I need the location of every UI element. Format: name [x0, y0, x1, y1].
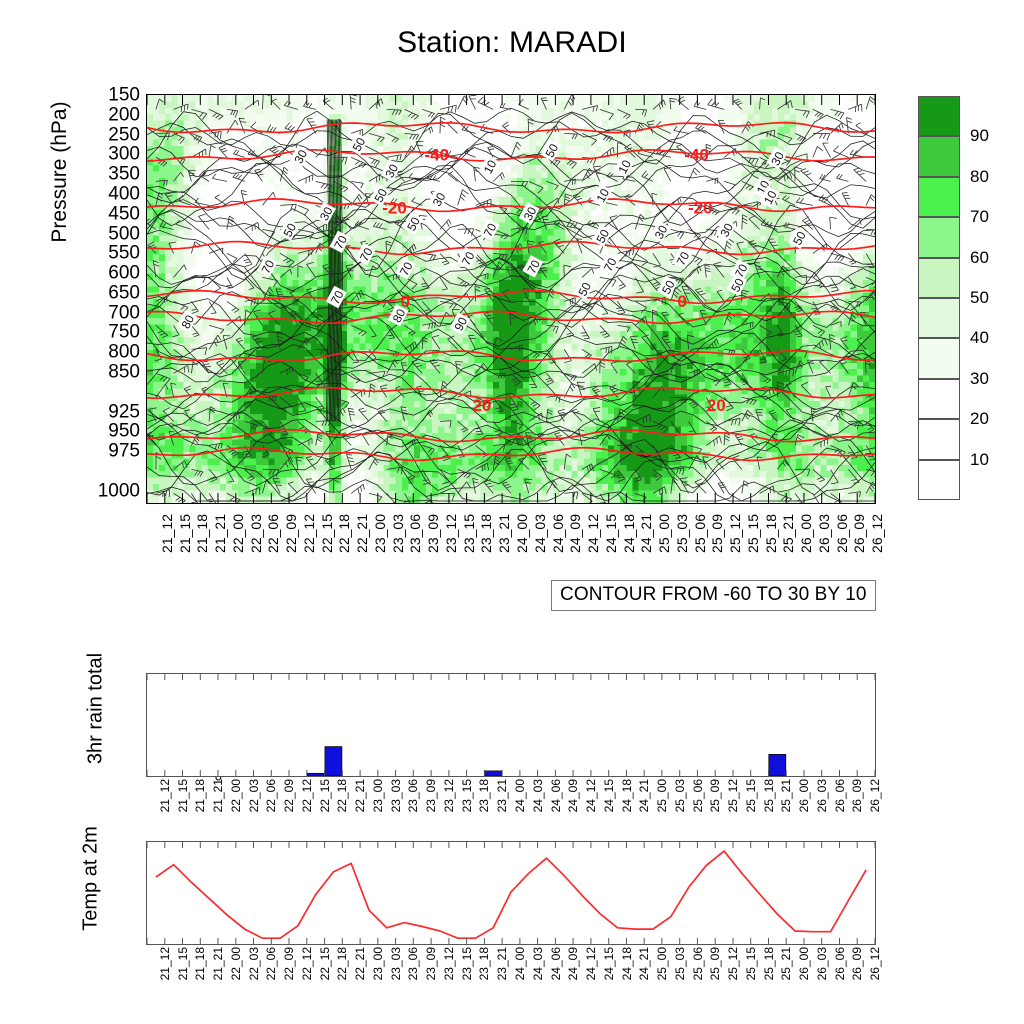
- colorbar-label: 50: [970, 288, 989, 308]
- rain-bar-chart: [147, 674, 875, 776]
- x-tick-label: 25_21: [781, 514, 795, 553]
- x-tick-label: 24_09: [567, 779, 579, 812]
- x-tick-label: 21_21: [212, 947, 224, 980]
- main-y-tick: 800: [80, 343, 140, 362]
- x-tick-label: 25_15: [745, 779, 757, 812]
- time-height-plot: -40-40-20-200020203050301050103010503030…: [147, 95, 875, 503]
- x-tick-label: 24_21: [639, 514, 653, 553]
- x-tick-label: 25_18: [764, 514, 778, 553]
- x-tick-label: 23_06: [407, 779, 419, 812]
- colorbar-label: 30: [970, 369, 989, 389]
- x-tick-label: 25_00: [657, 514, 671, 553]
- x-tick-label: 21_15: [178, 514, 192, 553]
- x-tick-label: 24_00: [514, 779, 526, 812]
- relative-humidity-colorbar: 908070605040302010: [918, 96, 960, 500]
- x-tick-label: 26_00: [798, 779, 810, 812]
- main-y-tick: 650: [80, 283, 140, 302]
- colorbar-cell: [918, 338, 960, 378]
- x-tick-label: 25_21: [780, 779, 792, 812]
- x-tick-label: 25_03: [674, 779, 686, 812]
- x-tick-label: 26_03: [816, 779, 828, 812]
- x-tick-label: 24_18: [622, 514, 636, 553]
- x-tick-label: 25_09: [709, 779, 721, 812]
- x-tick-label: 24_18: [621, 779, 633, 812]
- main-y-tick: 450: [80, 204, 140, 223]
- x-tick-label: 25_00: [656, 947, 668, 980]
- x-tick-label: 24_00: [514, 947, 526, 980]
- x-tick-label: 24_09: [568, 514, 582, 553]
- x-tick-label: 21_21: [213, 514, 227, 553]
- x-tick-label: 26_06: [834, 779, 846, 812]
- x-tick-label: 21_15: [177, 947, 189, 980]
- x-tick-label: 23_15: [461, 779, 473, 812]
- temp-y-axis-label: Temp at 2m: [80, 794, 103, 964]
- x-tick-label: 23_21: [496, 947, 508, 980]
- x-tick-label: 26_03: [817, 514, 831, 553]
- x-tick-label: 23_00: [373, 514, 387, 553]
- main-y-tick: 700: [80, 303, 140, 322]
- main-y-tick: 400: [80, 184, 140, 203]
- x-tick-label: 24_21: [638, 947, 650, 980]
- x-tick-label: 25_09: [709, 947, 721, 980]
- x-tick-label: 24_15: [604, 514, 618, 553]
- x-tick-label: 25_12: [727, 779, 739, 812]
- x-tick-label: 22_09: [283, 947, 295, 980]
- main-y-tick: 250: [80, 125, 140, 144]
- colorbar-cell: [918, 177, 960, 217]
- x-tick-label: 23_03: [391, 514, 405, 553]
- colorbar-cell: [918, 258, 960, 298]
- x-tick-label: 26_09: [852, 514, 866, 553]
- colorbar-label: 20: [970, 409, 989, 429]
- x-tick-label: 22_00: [230, 779, 242, 812]
- temp-y-axis-label-wrap: Temp at 2m: [12, 893, 13, 894]
- colorbar-label: 70: [970, 207, 989, 227]
- temperature-line-chart: [147, 842, 875, 944]
- x-tick-label: 22_21: [354, 779, 366, 812]
- x-tick-label: 25_12: [727, 947, 739, 980]
- main-y-tick: 350: [80, 165, 140, 184]
- main-y-tick: 500: [80, 224, 140, 243]
- x-tick-label: 24_12: [585, 947, 597, 980]
- x-tick-label: 23_12: [444, 514, 458, 553]
- x-tick-label: 22_09: [284, 514, 298, 553]
- x-tick-label: 22_00: [231, 514, 245, 553]
- x-tick-label: 21_18: [194, 779, 206, 812]
- x-tick-label: 25_00: [656, 779, 668, 812]
- x-tick-label: 23_06: [407, 947, 419, 980]
- x-tick-label: 25_06: [693, 514, 707, 553]
- x-tick-label: 23_03: [390, 779, 402, 812]
- x-tick-label: 26_12: [870, 514, 884, 553]
- x-tick-label: 25_15: [745, 947, 757, 980]
- main-y-tick: 950: [80, 422, 140, 441]
- x-tick-label: 22_00: [230, 947, 242, 980]
- colorbar-label: 10: [970, 450, 989, 470]
- main-x-tick-labels: 21_1221_1521_1821_2122_0022_0322_0622_09…: [146, 514, 876, 586]
- x-tick-label: 23_12: [443, 779, 455, 812]
- main-y-tick: 1000: [80, 481, 140, 500]
- x-tick-label: 24_03: [532, 779, 544, 812]
- x-tick-label: 22_12: [302, 514, 316, 553]
- x-tick-label: 24_21: [638, 779, 650, 812]
- x-tick-label: 22_21: [355, 514, 369, 553]
- x-tick-label: 25_03: [674, 947, 686, 980]
- x-tick-label: 21_18: [195, 514, 209, 553]
- rain-y-axis-label: 3hr rain total: [85, 619, 108, 799]
- main-y-tick: 925: [80, 402, 140, 421]
- x-tick-label: 23_03: [390, 947, 402, 980]
- x-tick-label: 24_09: [567, 947, 579, 980]
- x-tick-label: 25_03: [675, 514, 689, 553]
- x-tick-label: 22_03: [248, 779, 260, 812]
- x-tick-label: 26_06: [835, 514, 849, 553]
- main-y-axis-label: Pressure (hPa): [48, 7, 72, 337]
- x-tick-label: 21_12: [159, 779, 171, 812]
- main-y-tick: 975: [80, 442, 140, 461]
- x-tick-label: 26_12: [869, 779, 881, 812]
- x-tick-label: 22_18: [336, 779, 348, 812]
- x-tick-label: 22_12: [301, 947, 313, 980]
- x-tick-label: 23_09: [426, 514, 440, 553]
- x-tick-label: 26_06: [834, 947, 846, 980]
- x-tick-label: 26_09: [851, 947, 863, 980]
- x-tick-label: 23_21: [497, 514, 511, 553]
- x-tick-label: 24_12: [586, 514, 600, 553]
- x-tick-label: 24_06: [550, 947, 562, 980]
- colorbar-cell: [918, 298, 960, 338]
- x-tick-label: 22_06: [266, 514, 280, 553]
- main-y-tick: 600: [80, 264, 140, 283]
- x-tick-label: 23_18: [478, 947, 490, 980]
- x-tick-label: 24_03: [533, 514, 547, 553]
- x-tick-label: 23_18: [478, 779, 490, 812]
- colorbar-cell: [918, 379, 960, 419]
- colorbar-cell: [918, 136, 960, 176]
- main-y-tick: 550: [80, 244, 140, 263]
- x-tick-label: 23_18: [479, 514, 493, 553]
- x-tick-label: 25_15: [746, 514, 760, 553]
- x-tick-label: 21_12: [159, 947, 171, 980]
- x-tick-label: 22_15: [319, 779, 331, 812]
- colorbar-label: 80: [970, 167, 989, 187]
- page-title: Station: MARADI: [0, 26, 1024, 60]
- plot-page: Station: MARADI Pressure (hPa) 150200250…: [0, 0, 1024, 1024]
- x-tick-label: 23_15: [461, 947, 473, 980]
- time-height-cross-section-panel[interactable]: -40-40-20-200020203050301050103010503030…: [146, 94, 876, 504]
- x-tick-label: 24_12: [585, 779, 597, 812]
- colorbar-label: 60: [970, 248, 989, 268]
- x-tick-label: 23_00: [372, 947, 384, 980]
- x-tick-label: 26_12: [869, 947, 881, 980]
- x-tick-label: 22_12: [301, 779, 313, 812]
- x-tick-label: 23_00: [372, 779, 384, 812]
- x-tick-label: 25_06: [692, 779, 704, 812]
- x-tick-label: 23_21: [496, 779, 508, 812]
- main-y-tick: 150: [80, 86, 140, 105]
- colorbar-cell: [918, 460, 960, 500]
- x-tick-label: 23_06: [408, 514, 422, 553]
- x-tick-label: 21_12: [160, 514, 174, 553]
- x-tick-label: 23_12: [443, 947, 455, 980]
- main-y-tick: 200: [80, 105, 140, 124]
- x-tick-label: 24_06: [550, 779, 562, 812]
- main-y-tick: 300: [80, 145, 140, 164]
- x-tick-label: 23_09: [425, 947, 437, 980]
- x-tick-label: 21_15: [177, 779, 189, 812]
- x-tick-label: 25_09: [710, 514, 724, 553]
- x-tick-label: 24_03: [532, 947, 544, 980]
- x-tick-label: 22_18: [337, 514, 351, 553]
- x-tick-label: 25_18: [763, 779, 775, 812]
- x-tick-label: 22_21: [354, 947, 366, 980]
- x-tick-label: 22_18: [336, 947, 348, 980]
- x-tick-label: 24_00: [515, 514, 529, 553]
- main-y-tick: 850: [80, 363, 140, 382]
- x-tick-label: 26_09: [851, 779, 863, 812]
- x-tick-label: 22_03: [249, 514, 263, 553]
- x-tick-label: 25_21: [780, 947, 792, 980]
- rain-y-axis-label-wrap: 3hr rain total: [12, 725, 13, 726]
- x-tick-label: 26_03: [816, 947, 828, 980]
- x-tick-label: 26_00: [798, 947, 810, 980]
- x-tick-label: 25_06: [692, 947, 704, 980]
- x-tick-label: 24_06: [551, 514, 565, 553]
- x-tick-label: 22_15: [320, 514, 334, 553]
- contour-info-box: CONTOUR FROM -60 TO 30 BY 10: [551, 580, 876, 611]
- colorbar-label: 90: [970, 126, 989, 146]
- main-y-tick-labels: 1502002503003504004505005506006507007508…: [74, 94, 140, 504]
- colorbar-label: 40: [970, 328, 989, 348]
- x-tick-label: 22_06: [265, 947, 277, 980]
- x-tick-label: 25_18: [763, 947, 775, 980]
- main-y-tick: 750: [80, 323, 140, 342]
- x-tick-label: 22_15: [319, 947, 331, 980]
- x-tick-label: 23_09: [425, 779, 437, 812]
- x-tick-label: 23_15: [462, 514, 476, 553]
- colorbar-cell: [918, 96, 960, 136]
- x-tick-label: 24_18: [621, 947, 633, 980]
- x-tick-label: 22_09: [283, 779, 295, 812]
- x-tick-label: 21_21: [212, 779, 224, 812]
- temp-x-tick-labels: 21_1221_1521_1821_2122_0022_0322_0622_09…: [146, 947, 876, 1019]
- x-tick-label: 22_03: [248, 947, 260, 980]
- x-tick-label: 24_15: [603, 779, 615, 812]
- x-tick-label: 21_18: [194, 947, 206, 980]
- x-tick-label: 24_15: [603, 947, 615, 980]
- x-tick-label: 25_12: [728, 514, 742, 553]
- temperature-panel[interactable]: [146, 841, 876, 945]
- rain-total-panel[interactable]: [146, 673, 876, 777]
- colorbar-cell: [918, 419, 960, 459]
- x-tick-label: 22_06: [265, 779, 277, 812]
- x-tick-label: 26_00: [799, 514, 813, 553]
- colorbar-cell: [918, 217, 960, 257]
